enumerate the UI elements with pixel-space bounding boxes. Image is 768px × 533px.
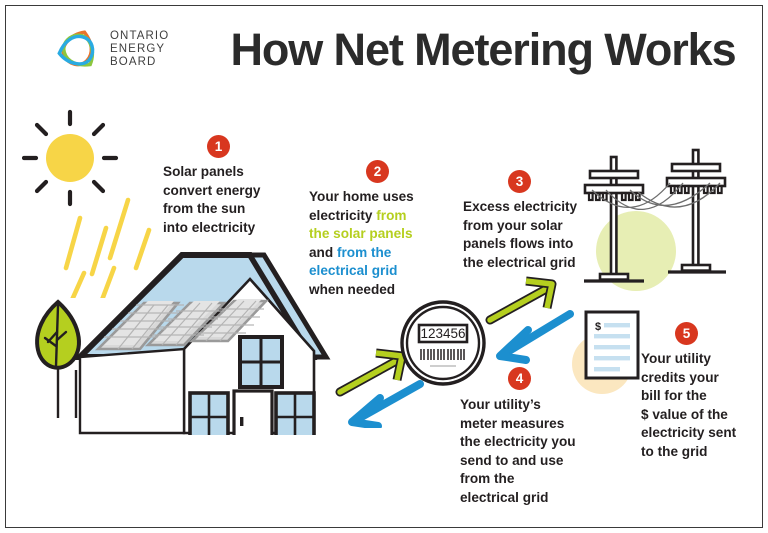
ontario-energy-board-logo: ONTARIO ENERGY BOARD (52, 26, 212, 78)
logo-wordmark: ONTARIO ENERGY BOARD (110, 30, 169, 70)
step-2-line-1: Your home uses (309, 188, 437, 207)
house-door (234, 391, 272, 435)
step-2-seg-3: from (376, 208, 406, 223)
logo-line-2: ENERGY (110, 43, 169, 56)
step-badge-4: 4 (508, 367, 531, 390)
step-4-line-3: the electricity you (460, 433, 588, 452)
step-3-text: Excess electricity from your solar panel… (463, 198, 588, 272)
step-2-line-6: when needed (309, 281, 437, 300)
step-5-line-4: $ value of the (641, 406, 759, 425)
electricity-meter: 123456 (398, 298, 488, 388)
step-2-seg-2: electricity (309, 208, 376, 223)
logo-line-1: ONTARIO (110, 30, 169, 43)
step-2-seg-7: electrical grid (309, 263, 397, 278)
step-5-line-3: bill for the (641, 387, 759, 406)
step-2-line-4: and from the (309, 244, 437, 263)
step-2-seg-1: Your home uses (309, 189, 414, 204)
step-badge-3: 3 (508, 170, 531, 193)
step-5-text: Your utility credits your bill for the $… (641, 350, 759, 462)
step-4-line-2: meter measures (460, 415, 588, 434)
utility-poles (570, 138, 740, 293)
step-badge-2: 2 (366, 160, 389, 183)
step-2-line-3: the solar panels (309, 225, 437, 244)
step-5-line-6: to the grid (641, 443, 759, 462)
step-2-line-5: electrical grid (309, 262, 437, 281)
house-right-window (276, 393, 314, 435)
step-1-line-2: convert energy (163, 182, 293, 201)
step-2-text: Your home uses electricity from the sola… (309, 188, 437, 300)
infographic-poster: ONTARIO ENERGY BOARD How Net Metering Wo… (0, 0, 768, 533)
arrow-blue-from-grid-right (500, 314, 570, 360)
house-upper-window (240, 337, 282, 387)
step-2-line-2: electricity from (309, 207, 437, 226)
arrow-green-to-grid-right (490, 281, 552, 320)
step-3-line-3: panels flows into (463, 235, 588, 254)
bill-currency-symbol: $ (595, 321, 601, 333)
step-1-line-4: into electricity (163, 219, 293, 238)
step-3-line-1: Excess electricity (463, 198, 588, 217)
step-2-seg-6: from the (337, 245, 391, 260)
arrow-green-to-grid-left (340, 353, 402, 392)
step-1-line-1: Solar panels (163, 163, 293, 182)
step-2-seg-5: and (309, 245, 337, 260)
step-2-seg-4: the solar panels (309, 226, 413, 241)
step-5-line-2: credits your (641, 369, 759, 388)
logo-line-3: BOARD (110, 56, 169, 69)
oeb-trillium-mark (52, 26, 104, 76)
step-4-line-6: electrical grid (460, 489, 588, 508)
page-title: How Net Metering Works (228, 22, 738, 78)
step-4-line-5: from the (460, 470, 588, 489)
step-5-line-1: Your utility (641, 350, 759, 369)
step-4-text: Your utility’s meter measures the electr… (460, 396, 588, 508)
step-3-line-4: the electrical grid (463, 254, 588, 273)
step-badge-1: 1 (207, 135, 230, 158)
step-1-text: Solar panels convert energy from the sun… (163, 163, 293, 237)
step-1-line-3: from the sun (163, 200, 293, 219)
step-4-line-4: send to and use (460, 452, 588, 471)
house-left-window (190, 393, 228, 435)
meter-reading: 123456 (420, 326, 465, 341)
sun-icon (24, 112, 116, 204)
step-5-line-5: electricity sent (641, 424, 759, 443)
step-2-seg-8: when needed (309, 282, 395, 297)
arrow-blue-from-grid-left (352, 384, 420, 426)
step-4-line-1: Your utility’s (460, 396, 588, 415)
step-badge-5: 5 (675, 322, 698, 345)
step-3-line-2: from your solar (463, 217, 588, 236)
